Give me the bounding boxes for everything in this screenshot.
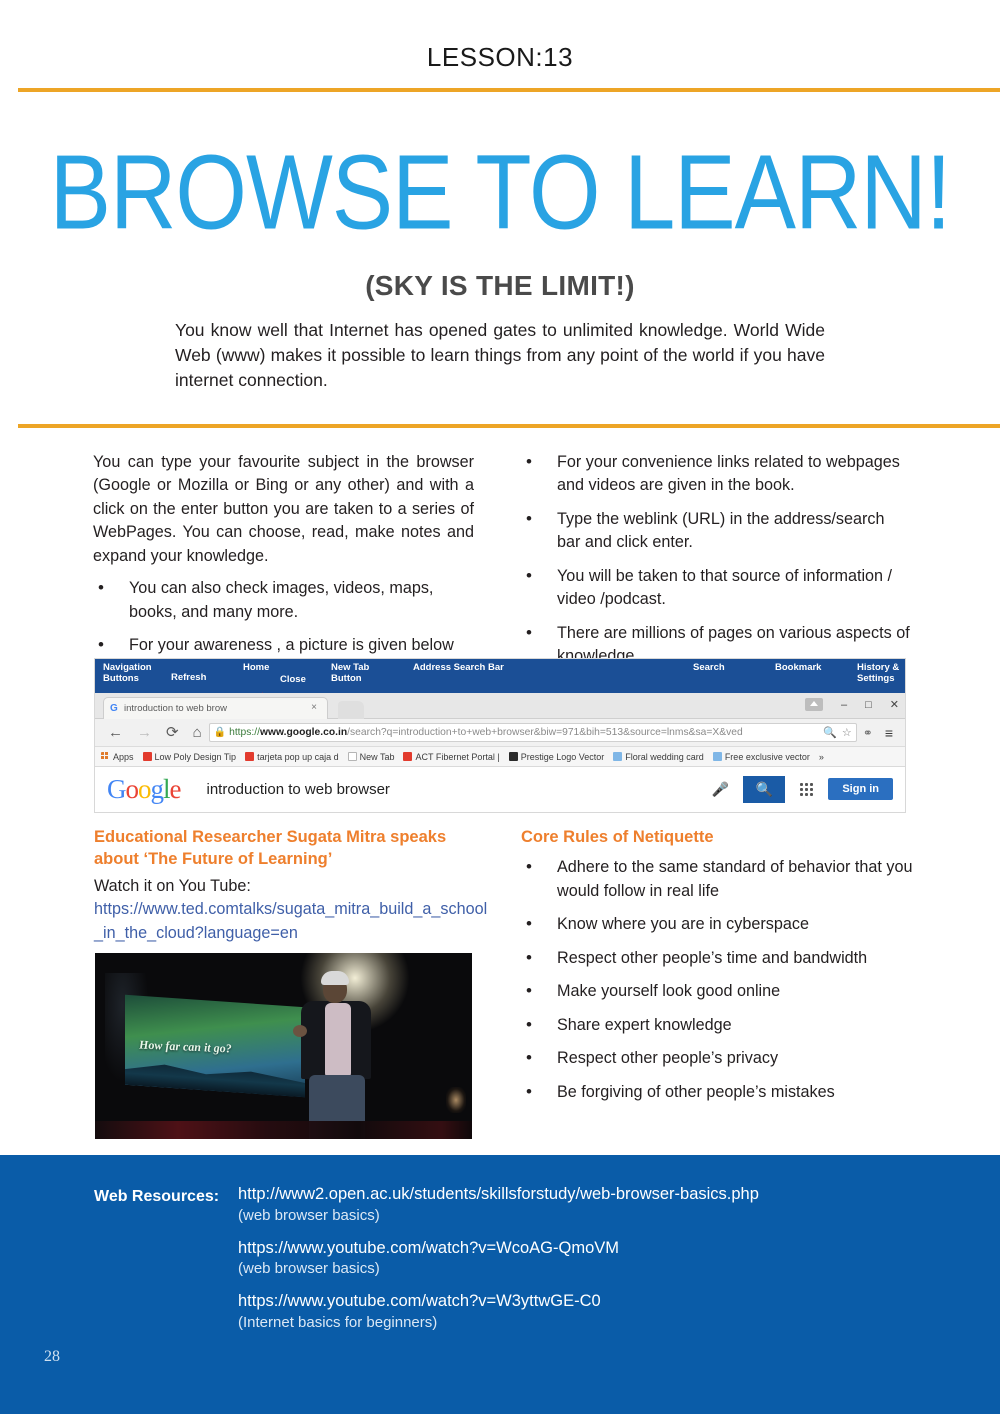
speaker-shirt xyxy=(325,1003,351,1079)
mitra-ted-url[interactable]: https://www.ted.comtalks/sugata_mitra_bu… xyxy=(94,898,494,945)
stage-floor xyxy=(95,1121,472,1139)
close-icon[interactable]: × xyxy=(311,702,317,713)
annotation-bar: Navigation Buttons Refresh Home Close Ne… xyxy=(95,659,905,693)
browser-toolbar: ← → ⟳ ⌂ 🔒 https:// www.google.co.in /sea… xyxy=(95,719,905,747)
annotation-address-search-bar: Address Search Bar xyxy=(413,663,504,674)
web-resources-label: Web Resources: xyxy=(94,1188,219,1206)
audience-camera-glow xyxy=(446,1087,466,1113)
minimize-icon[interactable]: – xyxy=(841,699,847,711)
bookmark-item[interactable]: Free exclusive vector xyxy=(713,752,810,762)
back-arrow-icon[interactable]: ← xyxy=(108,725,123,740)
forward-arrow-icon[interactable]: → xyxy=(137,725,152,740)
bookmark-label: Free exclusive vector xyxy=(725,752,810,762)
list-item: https://www.youtube.com/watch?v=W3yttwGE… xyxy=(238,1291,938,1333)
annotation-bookmark: Bookmark xyxy=(775,663,821,674)
bookmark-favicon xyxy=(143,752,152,761)
home-icon[interactable]: ⌂ xyxy=(193,725,202,740)
page-number: 28 xyxy=(44,1348,60,1366)
bookmarks-overflow-icon[interactable]: » xyxy=(819,752,824,762)
bookmark-label: tarjeta pop up caja d xyxy=(257,752,339,762)
bookmark-item[interactable]: Floral wedding card xyxy=(613,752,704,762)
apps-grid-icon xyxy=(101,752,110,761)
tab-title: introduction to web brow xyxy=(124,703,227,714)
bookmark-label: Floral wedding card xyxy=(625,752,704,762)
netiquette-section: Core Rules of Netiquette Adhere to the s… xyxy=(521,826,916,1114)
resource-note: (web browser basics) xyxy=(238,1206,938,1226)
resource-note: (Internet basics for beginners) xyxy=(238,1313,938,1333)
divider-top xyxy=(18,88,1000,92)
resource-url[interactable]: https://www.youtube.com/watch?v=WcoAG-Qm… xyxy=(238,1238,938,1260)
close-window-icon[interactable]: ✕ xyxy=(890,698,899,711)
list-item: For your convenience links related to we… xyxy=(521,451,912,498)
sign-in-button[interactable]: Sign in xyxy=(828,778,893,800)
mitra-heading: Educational Researcher Sugata Mitra spea… xyxy=(94,826,494,871)
list-item: Make yourself look good online xyxy=(521,980,916,1003)
speaker-hand xyxy=(293,1025,307,1037)
annotation-home: Home xyxy=(243,663,269,674)
bookmark-item[interactable]: ACT Fibernet Portal | xyxy=(403,752,499,762)
bookmark-favicon xyxy=(613,752,622,761)
list-item: https://www.youtube.com/watch?v=WcoAG-Qm… xyxy=(238,1238,938,1280)
bookmark-favicon xyxy=(713,752,722,761)
netiquette-heading: Core Rules of Netiquette xyxy=(521,826,916,848)
browser-tab-strip: G introduction to web brow × – □ ✕ xyxy=(95,693,905,719)
annotation-close: Close xyxy=(280,675,306,686)
web-resources-list: http://www2.open.ac.uk/students/skillsfo… xyxy=(238,1184,938,1345)
address-search-bar[interactable]: 🔒 https:// www.google.co.in /search?q=in… xyxy=(209,723,857,742)
upload-icon[interactable] xyxy=(805,698,823,711)
resource-note: (web browser basics) xyxy=(238,1259,938,1279)
resource-url[interactable]: http://www2.open.ac.uk/students/skillsfo… xyxy=(238,1184,938,1206)
ted-talk-photo: How far can it go? xyxy=(95,953,472,1139)
bookmark-favicon xyxy=(509,752,518,761)
annotation-history-settings: History & Settings xyxy=(857,663,905,684)
bookmark-favicon xyxy=(348,752,357,761)
right-column: For your convenience links related to we… xyxy=(521,451,912,679)
netiquette-list: Adhere to the same standard of behavior … xyxy=(521,856,916,1104)
lesson-label: LESSON:13 xyxy=(427,42,573,72)
list-item: Know where you are in cyberspace xyxy=(521,913,916,936)
reload-icon[interactable]: ⟳ xyxy=(166,725,179,740)
new-tab-button[interactable] xyxy=(338,701,364,719)
speaker-hair xyxy=(321,971,349,985)
url-host: www.google.co.in xyxy=(260,727,347,738)
list-item: You will be taken to that source of info… xyxy=(521,565,912,612)
zoom-search-icon[interactable]: 🔍 xyxy=(823,726,837,739)
left-column: You can type your favourite subject in t… xyxy=(93,451,474,691)
list-item: Adhere to the same standard of behavior … xyxy=(521,856,916,903)
url-path: /search?q=introduction+to+web+browser&bi… xyxy=(347,727,743,738)
search-query-text[interactable]: introduction to web browser xyxy=(207,781,390,798)
bookmark-label: New Tab xyxy=(360,752,395,762)
list-item: Respect other people’s time and bandwidt… xyxy=(521,947,916,970)
bookmark-favicon xyxy=(403,752,412,761)
bookmark-item[interactable]: New Tab xyxy=(348,752,395,762)
google-favicon: G xyxy=(110,703,118,714)
resource-url[interactable]: https://www.youtube.com/watch?v=W3yttwGE… xyxy=(238,1291,938,1313)
google-logo: Google xyxy=(107,774,181,805)
bookmark-item[interactable]: Apps xyxy=(101,752,134,762)
annotation-refresh: Refresh xyxy=(171,673,206,684)
list-item: Be forgiving of other people’s mistakes xyxy=(521,1081,916,1104)
microphone-icon[interactable]: 🎤 xyxy=(712,781,729,798)
list-item: http://www2.open.ac.uk/students/skillsfo… xyxy=(238,1184,938,1226)
intro-paragraph: You know well that Internet has opened g… xyxy=(175,318,825,393)
bookmark-star-icon[interactable]: ☆ xyxy=(842,726,852,739)
bookmark-label: Prestige Logo Vector xyxy=(521,752,605,762)
annotation-search: Search xyxy=(693,663,725,674)
settings-menu-icon[interactable]: ≡ xyxy=(885,725,893,741)
bookmark-item[interactable]: Prestige Logo Vector xyxy=(509,752,605,762)
page-title: BROWSE TO LEARN! xyxy=(0,140,1000,246)
browser-screenshot-figure: Navigation Buttons Refresh Home Close Ne… xyxy=(94,658,906,813)
sugata-mitra-section: Educational Researcher Sugata Mitra spea… xyxy=(94,826,494,945)
bookmark-item[interactable]: tarjeta pop up caja d xyxy=(245,752,339,762)
google-search-header: Google introduction to web browser 🎤 🔍 S… xyxy=(95,767,905,811)
lock-icon: 🔒 xyxy=(214,727,226,738)
google-apps-icon[interactable] xyxy=(799,782,814,797)
lesson-header: LESSON:13 xyxy=(0,42,1000,73)
bookmark-label: Low Poly Design Tip xyxy=(155,752,237,762)
right-bullet-list: For your convenience links related to we… xyxy=(521,451,912,669)
search-button[interactable]: 🔍 xyxy=(743,776,785,803)
left-paragraph: You can type your favourite subject in t… xyxy=(93,451,474,568)
annotation-new-tab-button: New Tab Button xyxy=(331,663,381,684)
list-item: Respect other people’s privacy xyxy=(521,1047,916,1070)
mitra-watch-line: Watch it on You Tube: xyxy=(94,875,494,898)
divider-middle xyxy=(18,424,1000,428)
maximize-icon[interactable]: □ xyxy=(865,699,872,711)
window-controls: – □ ✕ xyxy=(805,698,899,711)
page-subtitle: (SKY IS THE LIMIT!) xyxy=(0,270,1000,302)
annotation-navigation-buttons: Navigation Buttons xyxy=(103,663,173,684)
bookmark-label: ACT Fibernet Portal | xyxy=(415,752,499,762)
bookmarks-bar: Apps Low Poly Design Tip tarjeta pop up … xyxy=(95,747,905,767)
list-item: Share expert knowledge xyxy=(521,1014,916,1037)
browser-tab[interactable]: G introduction to web brow × xyxy=(103,697,328,719)
bookmark-favicon xyxy=(245,752,254,761)
url-scheme: https:// xyxy=(229,727,260,738)
bookmark-item[interactable]: Low Poly Design Tip xyxy=(143,752,237,762)
list-item: You can also check images, videos, maps,… xyxy=(93,577,474,624)
bookmark-label: Apps xyxy=(113,752,134,762)
extension-icon[interactable]: ⚭ xyxy=(863,726,873,740)
list-item: Type the weblink (URL) in the address/se… xyxy=(521,508,912,555)
textbook-page: LESSON:13 BROWSE TO LEARN! (SKY IS THE L… xyxy=(0,0,1000,1414)
